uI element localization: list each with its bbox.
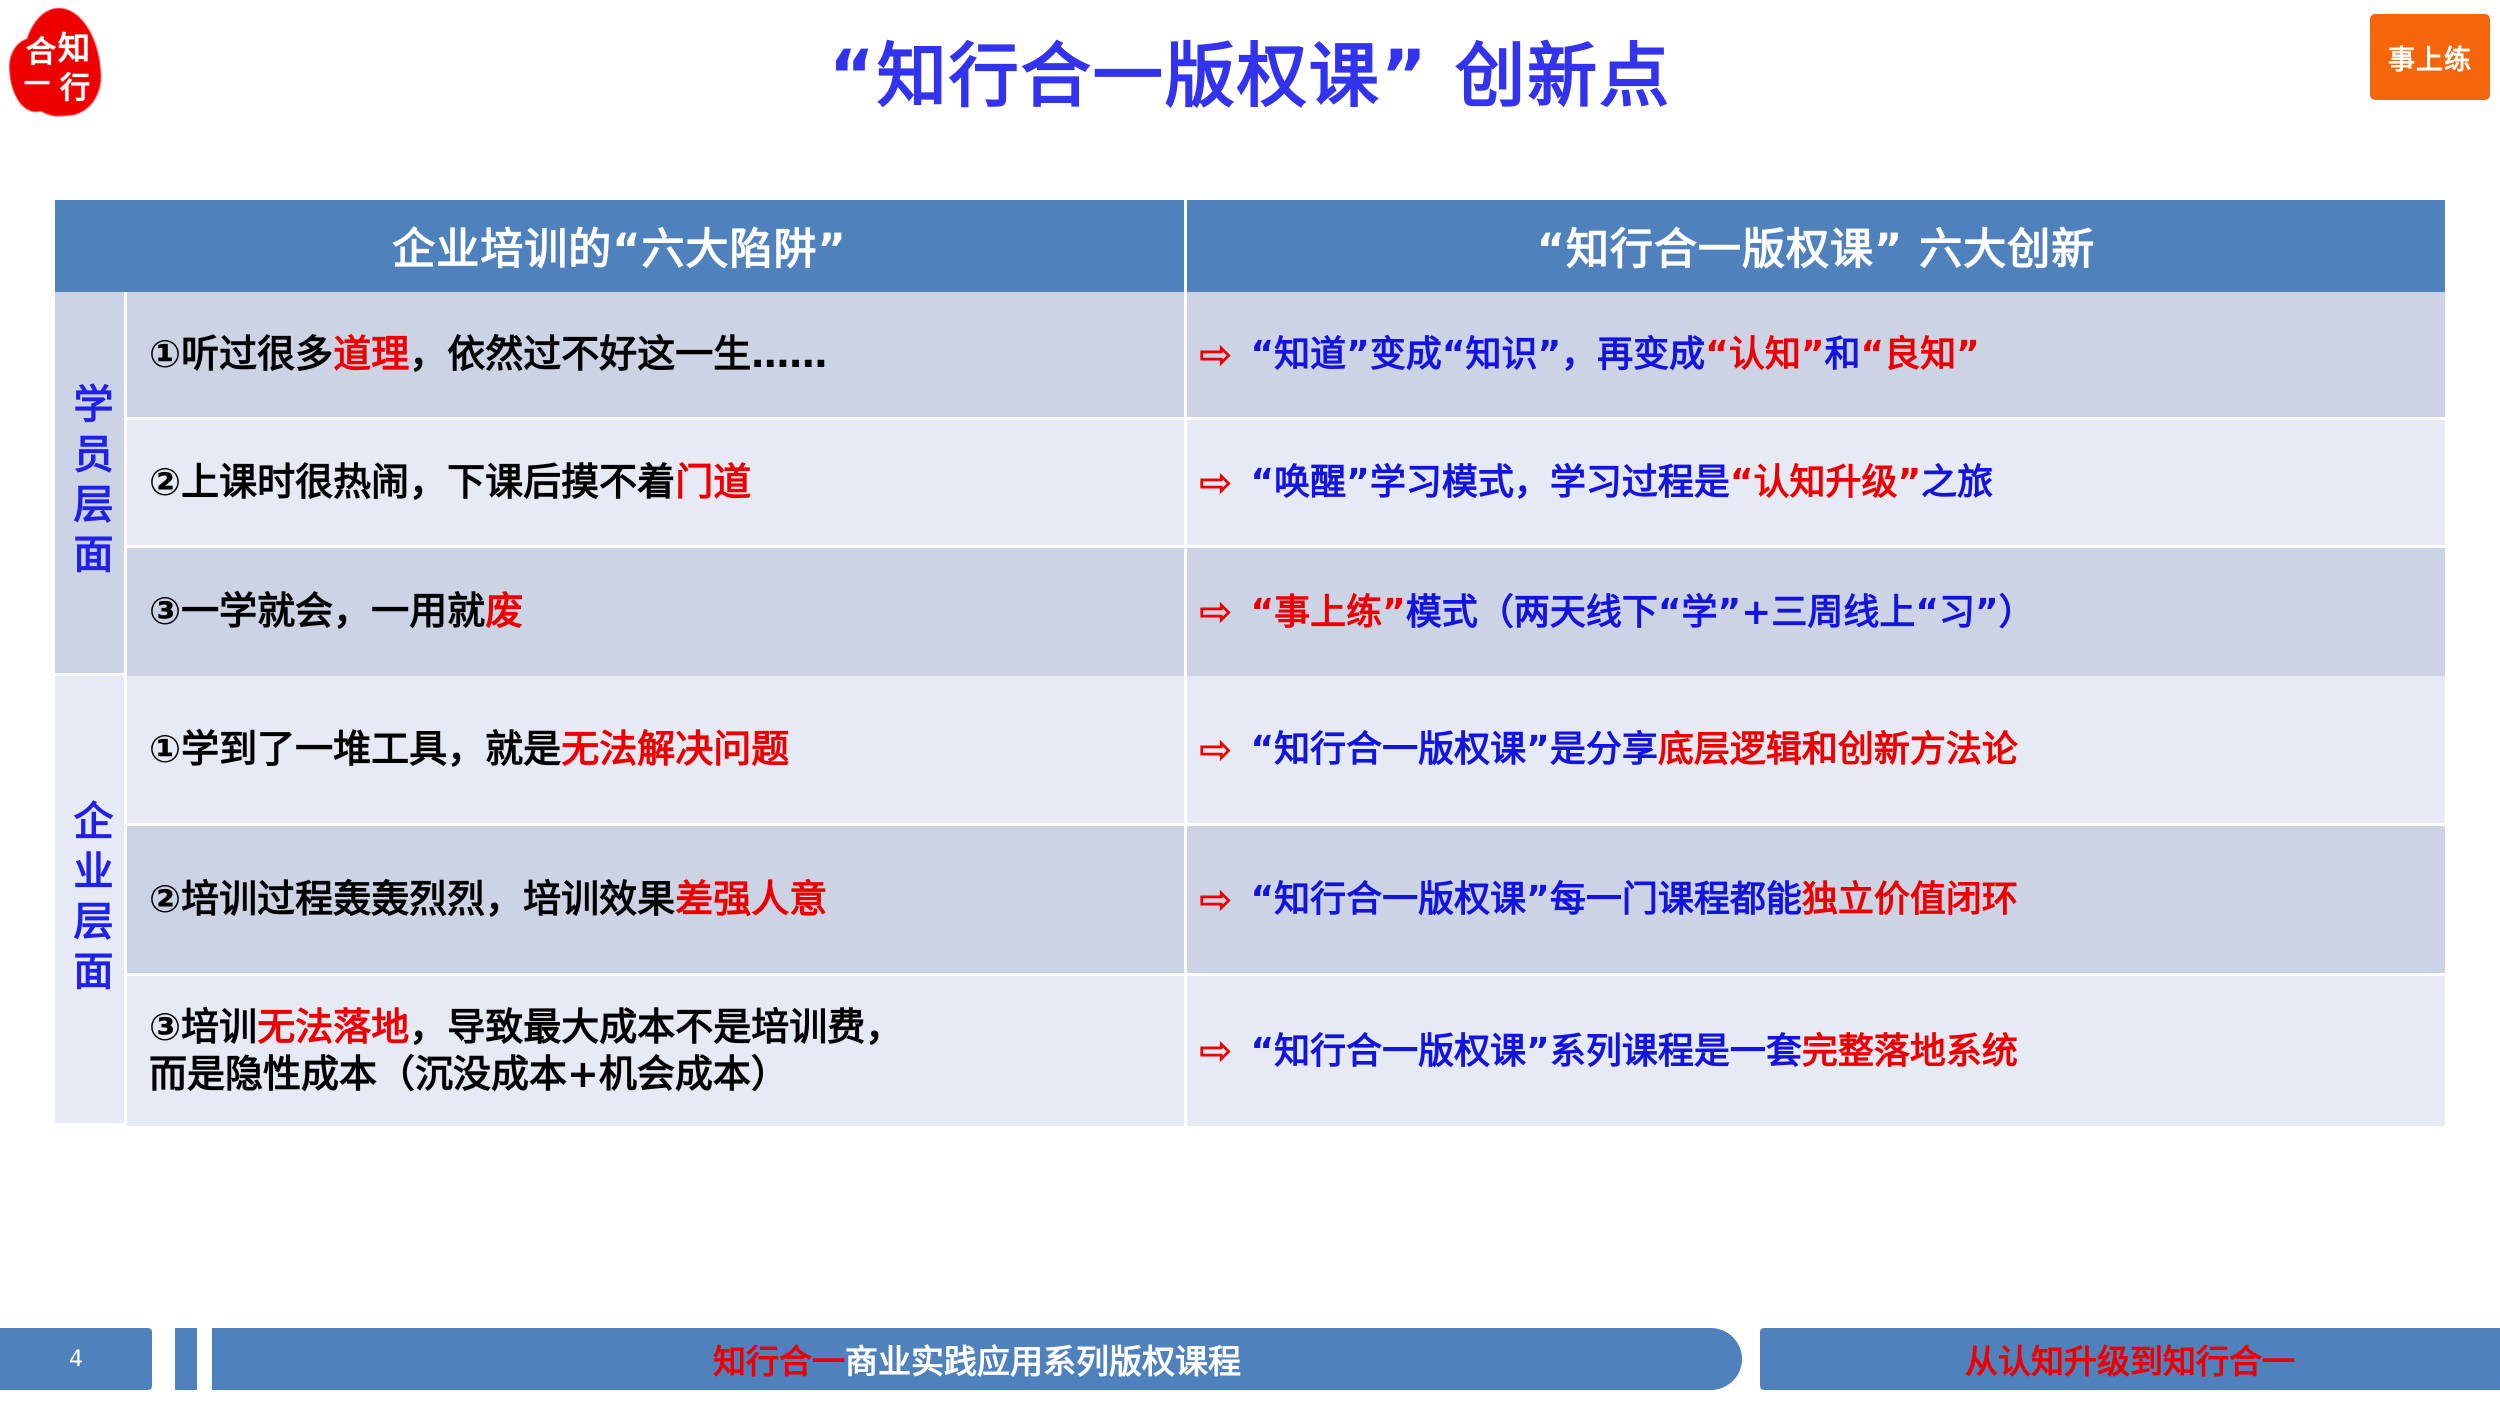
table-group: 企业层面①学到了一堆工具，就是无法解决问题⇨“知行合一版权课”是分享底层逻辑和创…	[55, 676, 2445, 1126]
innovation-cell: ⇨“知道”变成“知识”，再变成“认知”和“良知”	[1187, 292, 2445, 417]
text-segment: “事上练”	[1251, 592, 1406, 633]
trap-text: ①学到了一堆工具，就是无法解决问题	[149, 726, 789, 774]
text-segment: ③培训	[149, 1005, 257, 1049]
footer-course-title-brand: 知行合一	[713, 1335, 845, 1383]
group-label: 学员层面	[70, 383, 110, 583]
table-row: ③培训无法落地，导致最大成本不是培训费，而是隐性成本（沉没成本+机会成本）⇨“知…	[127, 976, 2445, 1126]
text-segment: 模式（两天线下“学”+三周线上“习”）	[1406, 592, 2035, 633]
group-label-cell: 学员层面	[55, 292, 127, 676]
trap-text: ②上课时很热闹，下课后摸不着门道	[149, 459, 751, 507]
shishanglian-badge: 事上练	[2370, 14, 2490, 100]
group-rows: ①听过很多道理，依然过不好这一生……⇨“知道”变成“知识”，再变成“认知”和“良…	[127, 292, 2445, 676]
group-rows: ①学到了一堆工具，就是无法解决问题⇨“知行合一版权课”是分享底层逻辑和创新方法论…	[127, 676, 2445, 1126]
text-segment: 完整落地系统	[1802, 1031, 2018, 1072]
text-segment: 之旅	[1921, 462, 1993, 503]
table-header-row: 企业培训的“六大陷阱” “知行合一版权课” 六大创新	[55, 200, 2445, 292]
trap-cell: ①听过很多道理，依然过不好这一生……	[127, 292, 1187, 417]
text-segment: “知行合一版权课”系列课程是一套	[1251, 1031, 1802, 1072]
innovation-cell: ⇨“知行合一版权课”每一门课程都能独立价值闭环	[1187, 826, 2445, 973]
trap-cell: ②上课时很热闹，下课后摸不着门道	[127, 420, 1187, 545]
footer-course-title-rest: 商业实践应用系列版权课程	[845, 1335, 1241, 1383]
text-segment: “知道”变成“知识”，再变成	[1251, 334, 1706, 375]
text-segment: 无法解决问题	[561, 727, 789, 771]
column-header-traps: 企业培训的“六大陷阱”	[55, 200, 1187, 292]
footer-slogan: 从认知升级到知行合一	[1760, 1328, 2500, 1390]
text-segment: ③一学就会，一用就	[149, 589, 485, 633]
innovation-text: “知道”变成“知识”，再变成“认知”和“良知”	[1251, 332, 1980, 377]
text-segment: “知行合一版权课”是分享	[1251, 729, 1658, 770]
innovation-text: “知行合一版权课”每一门课程都能独立价值闭环	[1251, 877, 2018, 922]
group-label: 企业层面	[70, 800, 110, 1000]
text-segment: 无法落地	[257, 1005, 409, 1049]
trap-cell: ③一学就会，一用就废	[127, 548, 1187, 676]
text-segment: 和	[1825, 334, 1861, 375]
trap-cell: ③培训无法落地，导致最大成本不是培训费，而是隐性成本（沉没成本+机会成本）	[127, 976, 1187, 1126]
innovation-cell: ⇨“知行合一版权课”系列课程是一套完整落地系统	[1187, 976, 2445, 1126]
text-segment: ①学到了一堆工具，就是	[149, 727, 561, 771]
trap-text: ③一学就会，一用就废	[149, 588, 523, 636]
column-header-innovations: “知行合一版权课” 六大创新	[1187, 200, 2445, 292]
text-segment: 独立价值闭环	[1802, 879, 2018, 920]
text-segment: “良知”	[1861, 334, 1980, 375]
footer: 4 知行合一商业实践应用系列版权课程 从认知升级到知行合一	[0, 1310, 2500, 1406]
innovation-cell: ⇨“唤醒”学习模式，学习过程是“认知升级”之旅	[1187, 420, 2445, 545]
text-segment: “认知”	[1705, 334, 1824, 375]
text-segment: 门道	[675, 460, 751, 504]
comparison-table: 企业培训的“六大陷阱” “知行合一版权课” 六大创新 学员层面①听过很多道理，依…	[55, 200, 2445, 1126]
page-number: 4	[0, 1328, 152, 1390]
innovation-cell: ⇨“事上练”模式（两天线下“学”+三周线上“习”）	[1187, 548, 2445, 676]
trap-cell: ①学到了一堆工具，就是无法解决问题	[127, 676, 1187, 823]
text-segment: 底层逻辑和创新方法论	[1658, 729, 2018, 770]
text-segment: 道理	[333, 332, 409, 376]
table-row: ①听过很多道理，依然过不好这一生……⇨“知道”变成“知识”，再变成“认知”和“良…	[127, 292, 2445, 420]
text-segment: “知行合一版权课”每一门课程都能	[1251, 879, 1802, 920]
trap-text: ②培训过程轰轰烈烈，培训效果差强人意	[149, 876, 827, 924]
innovation-cell: ⇨“知行合一版权课”是分享底层逻辑和创新方法论	[1187, 676, 2445, 823]
table-row: ②培训过程轰轰烈烈，培训效果差强人意⇨“知行合一版权课”每一门课程都能独立价值闭…	[127, 826, 2445, 976]
table-group: 学员层面①听过很多道理，依然过不好这一生……⇨“知道”变成“知识”，再变成“认知…	[55, 292, 2445, 676]
trap-text: ①听过很多道理，依然过不好这一生……	[149, 331, 827, 379]
text-segment: ，依然过不好这一生……	[409, 332, 827, 376]
text-segment: 废	[485, 589, 523, 633]
innovation-text: “事上练”模式（两天线下“学”+三周线上“习”）	[1251, 590, 2035, 635]
text-segment: “认知升级”	[1730, 462, 1921, 503]
arrow-right-icon: ⇨	[1199, 458, 1233, 508]
table-body: 学员层面①听过很多道理，依然过不好这一生……⇨“知道”变成“知识”，再变成“认知…	[55, 292, 2445, 1126]
innovation-text: “知行合一版权课”是分享底层逻辑和创新方法论	[1251, 727, 2018, 772]
trap-cell: ②培训过程轰轰烈烈，培训效果差强人意	[127, 826, 1187, 973]
innovation-text: “知行合一版权课”系列课程是一套完整落地系统	[1251, 1029, 2018, 1074]
page-title: “知行合一版权课” 创新点	[0, 20, 2500, 121]
arrow-right-icon: ⇨	[1199, 587, 1233, 637]
footer-tick-decor	[175, 1328, 197, 1390]
text-segment: ①听过很多	[149, 332, 333, 376]
footer-course-title: 知行合一商业实践应用系列版权课程	[212, 1328, 1742, 1390]
group-label-cell: 企业层面	[55, 676, 127, 1126]
innovation-text: “唤醒”学习模式，学习过程是“认知升级”之旅	[1251, 460, 1994, 505]
table-row: ②上课时很热闹，下课后摸不着门道⇨“唤醒”学习模式，学习过程是“认知升级”之旅	[127, 420, 2445, 548]
text-segment: “唤醒”学习模式，学习过程是	[1251, 462, 1730, 503]
text-segment: ②上课时很热闹，下课后摸不着	[149, 460, 675, 504]
arrow-right-icon: ⇨	[1199, 330, 1233, 380]
text-segment: 差强人意	[675, 877, 827, 921]
table-row: ①学到了一堆工具，就是无法解决问题⇨“知行合一版权课”是分享底层逻辑和创新方法论	[127, 676, 2445, 826]
arrow-right-icon: ⇨	[1199, 875, 1233, 925]
arrow-right-icon: ⇨	[1199, 725, 1233, 775]
table-row: ③一学就会，一用就废⇨“事上练”模式（两天线下“学”+三周线上“习”）	[127, 548, 2445, 676]
arrow-right-icon: ⇨	[1199, 1026, 1233, 1076]
trap-text: ③培训无法落地，导致最大成本不是培训费，而是隐性成本（沉没成本+机会成本）	[149, 1004, 903, 1099]
text-segment: ②培训过程轰轰烈烈，培训效果	[149, 877, 675, 921]
